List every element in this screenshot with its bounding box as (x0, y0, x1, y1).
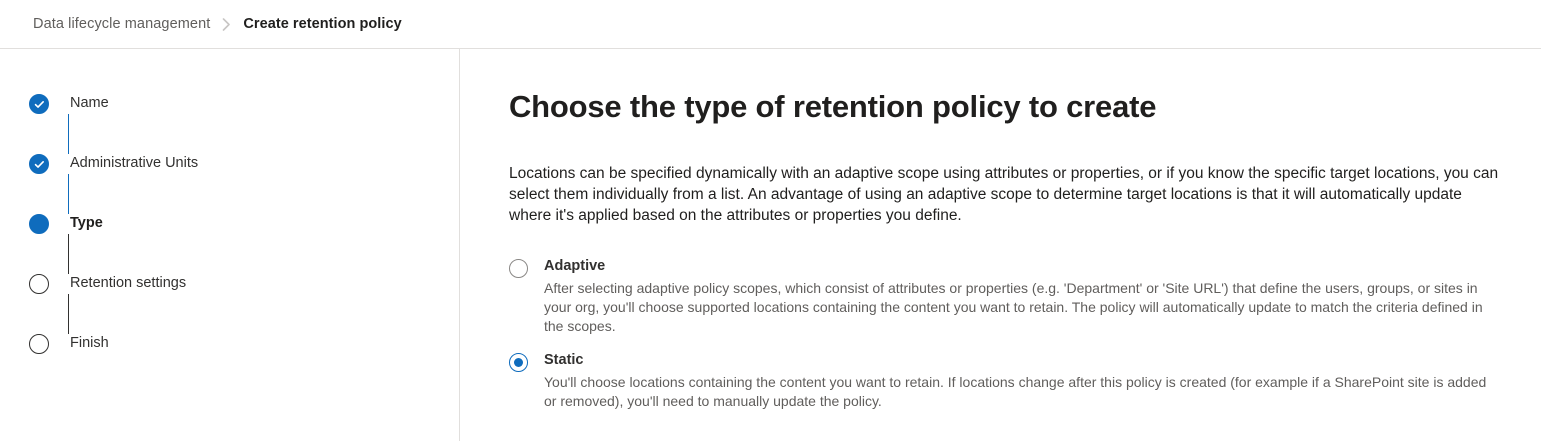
step-connector (68, 114, 70, 154)
breadcrumb-link-parent[interactable]: Data lifecycle management (33, 16, 210, 32)
page-description: Locations can be specified dynamically w… (509, 163, 1500, 226)
step-marker-name (29, 94, 49, 114)
radio-option-adaptive[interactable]: Adaptive After selecting adaptive policy… (509, 257, 1500, 336)
wizard-step-label: Finish (70, 333, 109, 353)
filled-circle-icon (29, 214, 49, 234)
wizard-step-label: Type (70, 213, 103, 233)
empty-circle-icon (29, 274, 49, 294)
step-connector (68, 234, 70, 274)
wizard-step-finish[interactable]: Finish (0, 333, 459, 393)
step-marker-retention-settings (29, 274, 49, 294)
wizard-step-administrative-units[interactable]: Administrative Units (0, 153, 459, 213)
step-marker-type (29, 214, 49, 234)
wizard-step-rail: Name Administrative Units Type (0, 49, 460, 441)
radio-static-dot (514, 358, 523, 367)
breadcrumb: Data lifecycle management Create retenti… (0, 0, 1541, 49)
wizard-step-label: Name (70, 93, 109, 113)
radio-option-static-body: Static You'll choose locations containin… (544, 351, 1500, 411)
radio-adaptive-icon[interactable] (509, 259, 528, 278)
empty-circle-icon (29, 334, 49, 354)
check-icon (29, 94, 49, 114)
wizard-step-label: Administrative Units (70, 153, 198, 173)
wizard-step-name[interactable]: Name (0, 93, 459, 153)
content-area: Name Administrative Units Type (0, 49, 1541, 441)
radio-option-adaptive-description: After selecting adaptive policy scopes, … (544, 279, 1500, 336)
policy-type-radio-group: Adaptive After selecting adaptive policy… (509, 257, 1500, 411)
wizard-step-type[interactable]: Type (0, 213, 459, 273)
radio-option-adaptive-label[interactable]: Adaptive (544, 257, 1500, 276)
radio-option-static[interactable]: Static You'll choose locations containin… (509, 351, 1500, 411)
step-marker-finish (29, 334, 49, 354)
main-panel: Choose the type of retention policy to c… (460, 49, 1541, 441)
radio-option-static-label[interactable]: Static (544, 351, 1500, 370)
wizard-step-retention-settings[interactable]: Retention settings (0, 273, 459, 333)
wizard-step-label: Retention settings (70, 273, 186, 293)
step-connector (68, 294, 70, 334)
radio-option-adaptive-body: Adaptive After selecting adaptive policy… (544, 257, 1500, 336)
step-marker-administrative-units (29, 154, 49, 174)
page-title: Choose the type of retention policy to c… (509, 87, 1500, 127)
chevron-right-icon (222, 18, 231, 31)
breadcrumb-current: Create retention policy (243, 16, 401, 32)
radio-static-icon[interactable] (509, 353, 528, 372)
step-connector (68, 174, 70, 214)
radio-option-static-description: You'll choose locations containing the c… (544, 373, 1500, 411)
check-icon (29, 154, 49, 174)
